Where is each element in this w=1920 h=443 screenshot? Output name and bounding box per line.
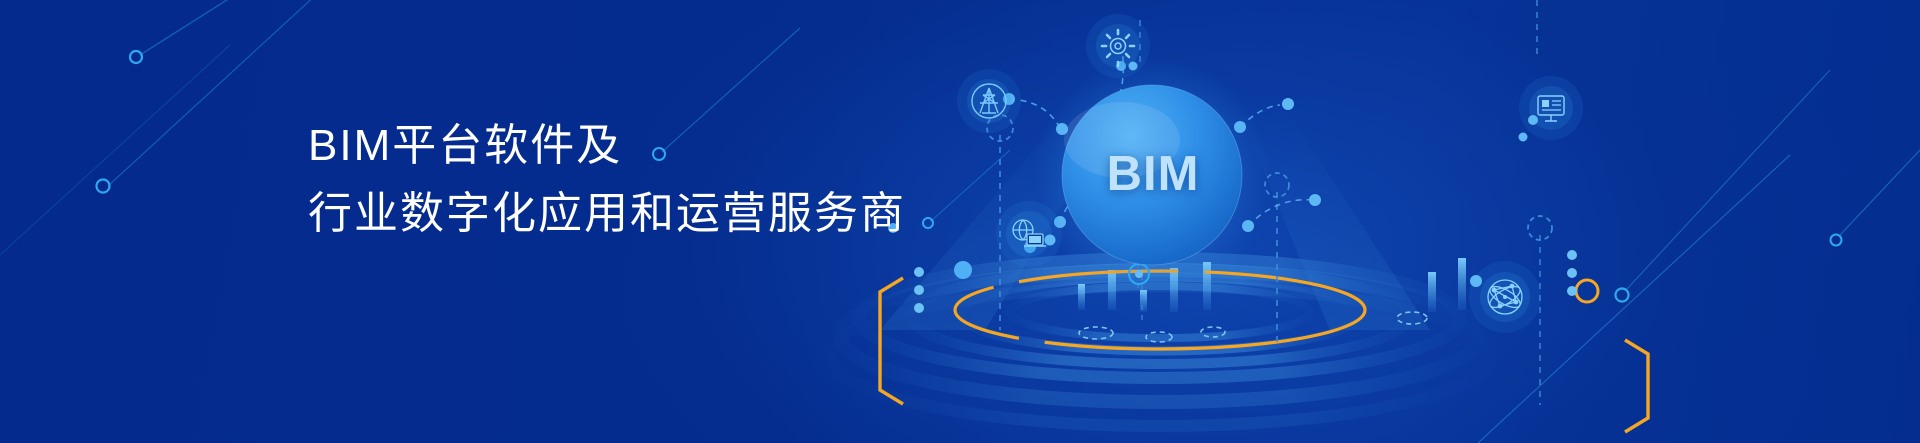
icon-bubble-network-nodes[interactable] bbox=[1469, 261, 1541, 333]
sphere-label: BIM bbox=[1078, 146, 1228, 202]
icon-bubble-monitor[interactable] bbox=[1519, 76, 1584, 142]
icon-bubble-power-tower[interactable] bbox=[957, 69, 1021, 133]
hero-banner: BIM平台软件及 行业数字化应用和运营服务商 BIM bbox=[0, 0, 1920, 443]
icon-bubble-globe-laptop[interactable] bbox=[996, 201, 1062, 267]
headline-line-1: BIM平台软件及 bbox=[308, 112, 928, 180]
orange-ring-dot bbox=[1576, 280, 1598, 302]
icon-bubble-gear[interactable] bbox=[1086, 14, 1150, 78]
background-decoration bbox=[0, 0, 1920, 443]
headline-block: BIM平台软件及 行业数字化应用和运营服务商 bbox=[308, 112, 928, 248]
headline-line-2: 行业数字化应用和运营服务商 bbox=[308, 180, 928, 248]
bracket-right bbox=[1625, 340, 1648, 432]
